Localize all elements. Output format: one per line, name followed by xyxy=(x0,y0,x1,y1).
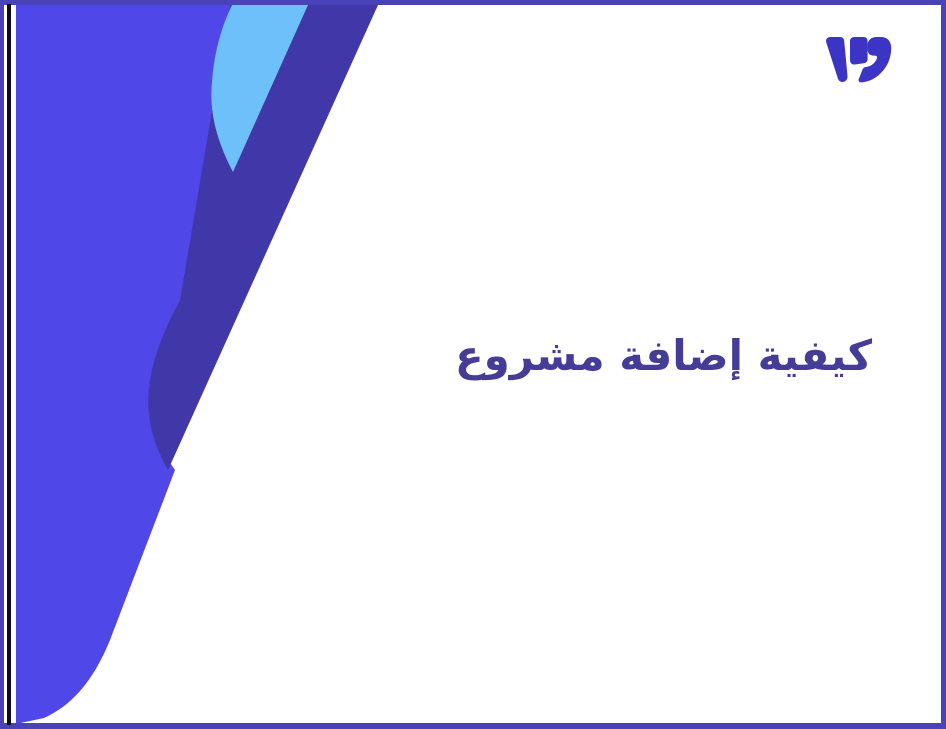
page-title: كيفية إضافة مشروع xyxy=(252,330,872,383)
wrike-w-logo xyxy=(822,32,894,88)
slide-title-container: كيفية إضافة مشروع xyxy=(252,330,872,383)
wrike-w-logo-icon xyxy=(822,32,894,88)
slide-canvas: كيفية إضافة مشروع xyxy=(0,0,946,729)
left-spine-line xyxy=(7,4,11,725)
